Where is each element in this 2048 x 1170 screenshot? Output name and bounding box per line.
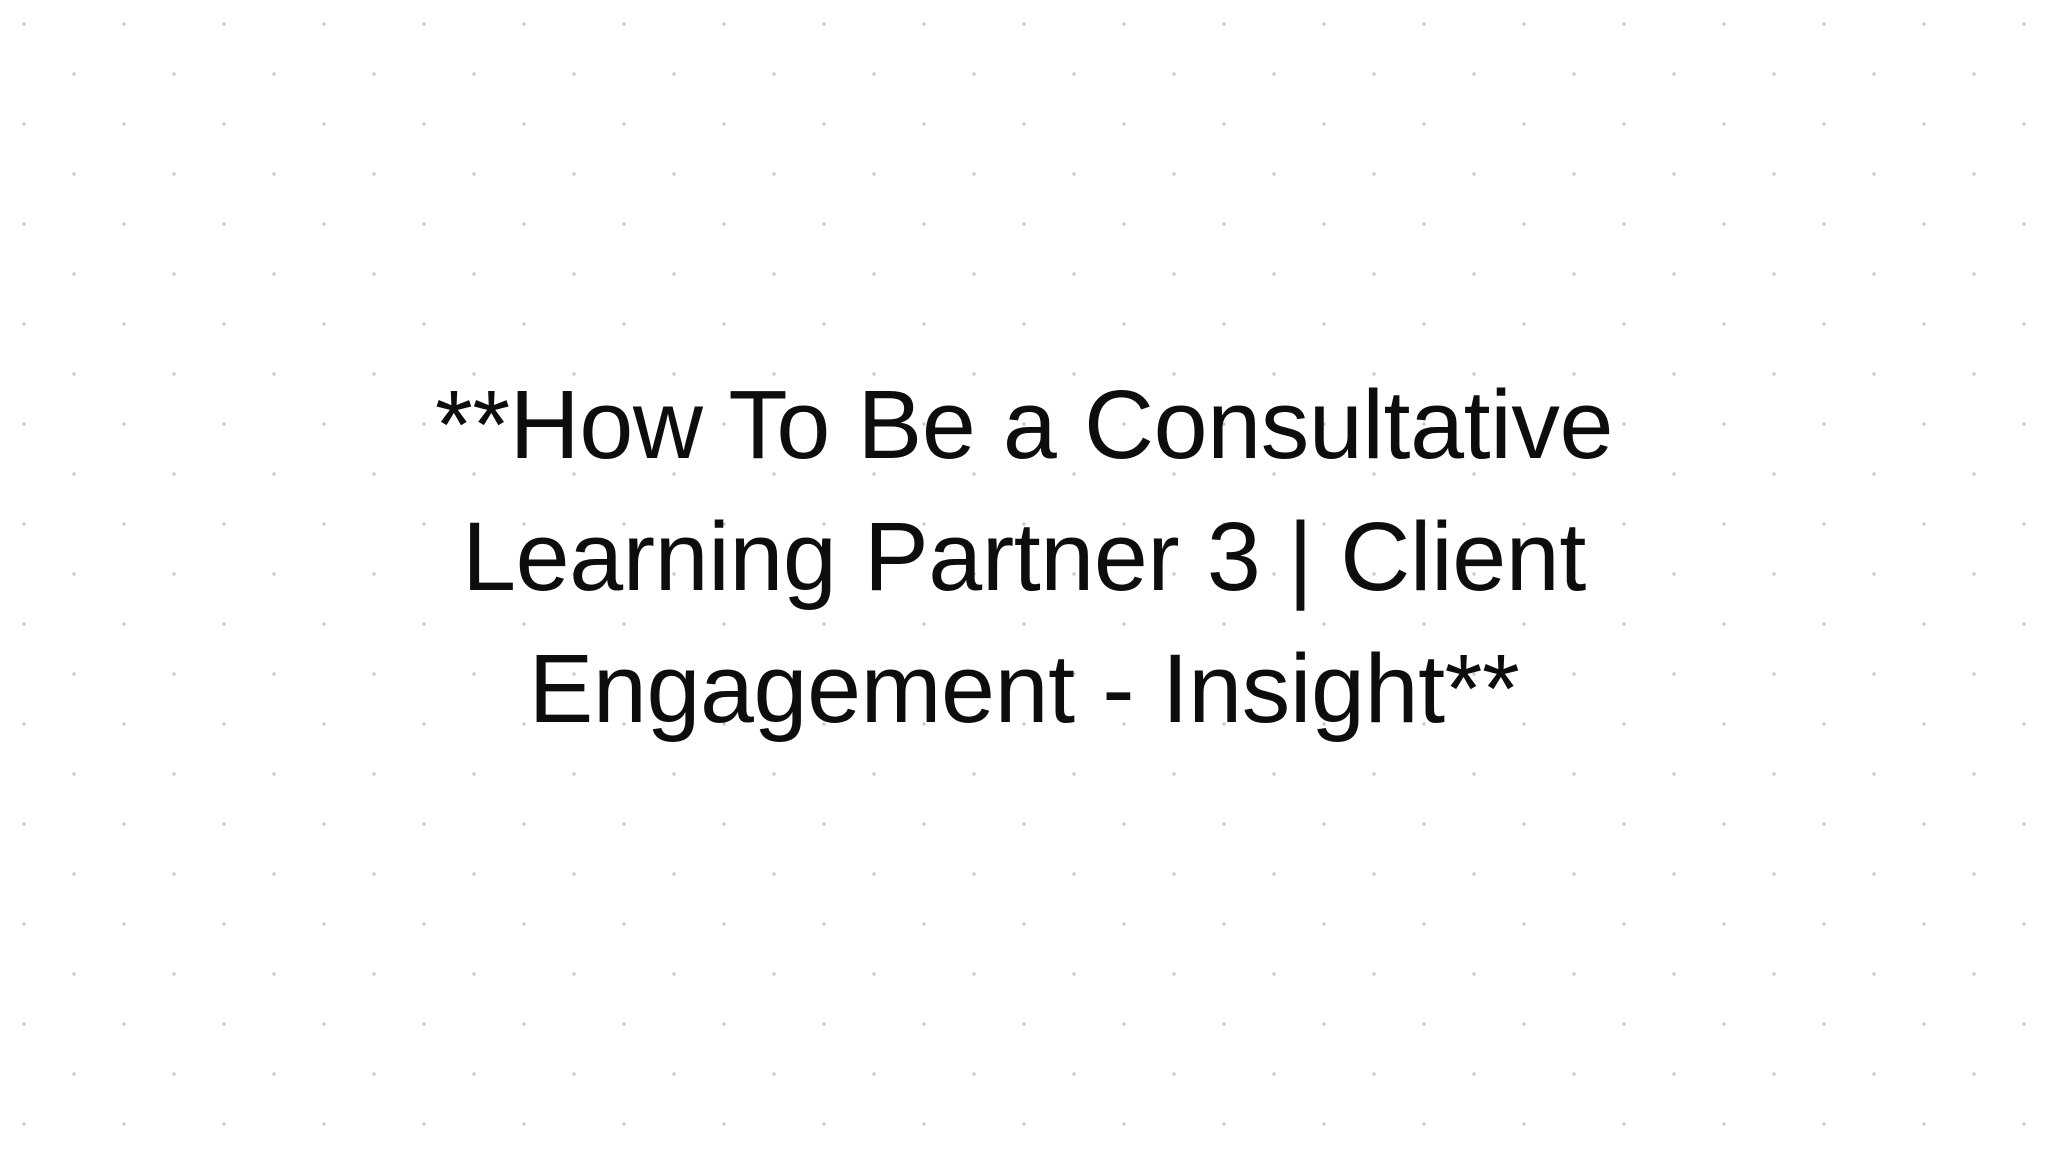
page-title: **How To Be a Consultative Learning Part… <box>379 359 1669 755</box>
slide-content: **How To Be a Consultative Learning Part… <box>0 0 2048 1170</box>
slide-canvas: **How To Be a Consultative Learning Part… <box>0 0 2048 1170</box>
